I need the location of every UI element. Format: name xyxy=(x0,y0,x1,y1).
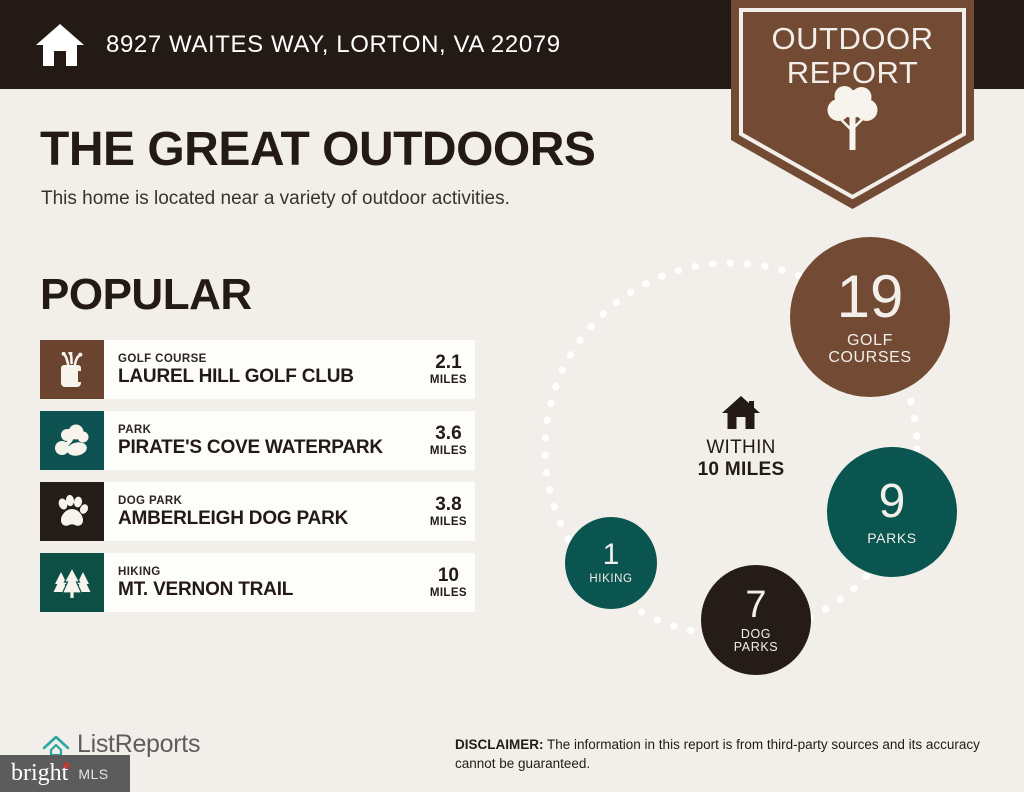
bubble-value: 19 xyxy=(837,267,904,327)
bubble-label-line-1: PARKS xyxy=(867,531,916,546)
paw-print-icon xyxy=(40,482,104,541)
bubble-label-line-1: HIKING xyxy=(589,573,632,585)
center-line-2: 10 MILES xyxy=(666,459,816,481)
bright-mls-watermark: bright MLS xyxy=(0,755,130,792)
park-tree-icon xyxy=(40,411,104,470)
distance-value: 2.1 xyxy=(430,353,467,373)
badge-line-1: OUTDOOR xyxy=(731,22,974,56)
page-subtitle: This home is located near a variety of o… xyxy=(41,188,510,210)
bubble-value: 1 xyxy=(603,540,620,570)
distance-value: 3.8 xyxy=(430,495,467,515)
item-name: LAUREL HILL GOLF CLUB xyxy=(118,366,354,388)
item-category: HIKING xyxy=(118,565,293,579)
bubble-label-line-1: GOLF xyxy=(847,333,893,350)
watermark-accent-dot xyxy=(63,762,70,769)
item-name: MT. VERNON TRAIL xyxy=(118,579,293,601)
proximity-bubble-chart: 19 GOLF COURSES 9 PARKS 7 DOG PARKS 1 HI… xyxy=(520,225,1000,685)
distance-unit: MILES xyxy=(430,515,467,529)
list-item[interactable]: GOLF COURSE LAUREL HILL GOLF CLUB 2.1 MI… xyxy=(40,340,475,399)
house-outline-icon xyxy=(41,732,71,758)
home-icon xyxy=(34,22,86,68)
popular-list: GOLF COURSE LAUREL HILL GOLF CLUB 2.1 MI… xyxy=(40,340,475,624)
pine-trees-icon xyxy=(40,553,104,612)
item-name: AMBERLEIGH DOG PARK xyxy=(118,508,348,530)
item-category: DOG PARK xyxy=(118,494,348,508)
bubble-value: 7 xyxy=(745,586,766,624)
list-item[interactable]: HIKING MT. VERNON TRAIL 10 MILES xyxy=(40,553,475,612)
distance-unit: MILES xyxy=(430,444,467,458)
badge-line-2: REPORT xyxy=(731,56,974,90)
watermark-brand-text: bright xyxy=(11,760,68,786)
bubble-golf-courses[interactable]: 19 GOLF COURSES xyxy=(790,237,950,397)
item-name: PIRATE'S COVE WATERPARK xyxy=(118,437,383,459)
watermark-brand: bright xyxy=(11,760,68,787)
property-address: 8927 WAITES WAY, LORTON, VA 22079 xyxy=(106,31,561,59)
center-line-1: WITHIN xyxy=(666,437,816,459)
item-category: GOLF COURSE xyxy=(118,352,354,366)
bubble-label-line-2: COURSES xyxy=(828,350,911,367)
bubble-parks[interactable]: 9 PARKS xyxy=(827,447,957,577)
bubble-dog-parks[interactable]: 7 DOG PARKS xyxy=(701,565,811,675)
home-icon xyxy=(721,395,761,431)
distance-unit: MILES xyxy=(430,586,467,600)
disclaimer: DISCLAIMER: The information in this repo… xyxy=(455,735,995,773)
list-item[interactable]: PARK PIRATE'S COVE WATERPARK 3.6 MILES xyxy=(40,411,475,470)
item-distance: 10 MILES xyxy=(426,566,467,600)
page-title: THE GREAT OUTDOORS xyxy=(40,122,595,177)
item-category: PARK xyxy=(118,423,383,437)
list-item[interactable]: DOG PARK AMBERLEIGH DOG PARK 3.8 MILES xyxy=(40,482,475,541)
item-distance: 2.1 MILES xyxy=(426,353,467,387)
bubble-label-line-2: PARKS xyxy=(734,641,778,654)
item-distance: 3.6 MILES xyxy=(426,424,467,458)
section-title-popular: POPULAR xyxy=(40,270,252,320)
distance-value: 10 xyxy=(430,566,467,586)
distance-value: 3.6 xyxy=(430,424,467,444)
golf-bag-icon xyxy=(40,340,104,399)
disclaimer-label: DISCLAIMER: xyxy=(455,737,544,752)
outdoor-report-badge: OUTDOOR REPORT xyxy=(731,0,974,209)
bubble-value: 9 xyxy=(879,478,906,526)
item-distance: 3.8 MILES xyxy=(426,495,467,529)
watermark-mls-text: MLS xyxy=(78,766,108,782)
chart-center-label: WITHIN 10 MILES xyxy=(666,395,816,481)
badge-title: OUTDOOR REPORT xyxy=(731,22,974,90)
bubble-hiking[interactable]: 1 HIKING xyxy=(565,517,657,609)
distance-unit: MILES xyxy=(430,373,467,387)
